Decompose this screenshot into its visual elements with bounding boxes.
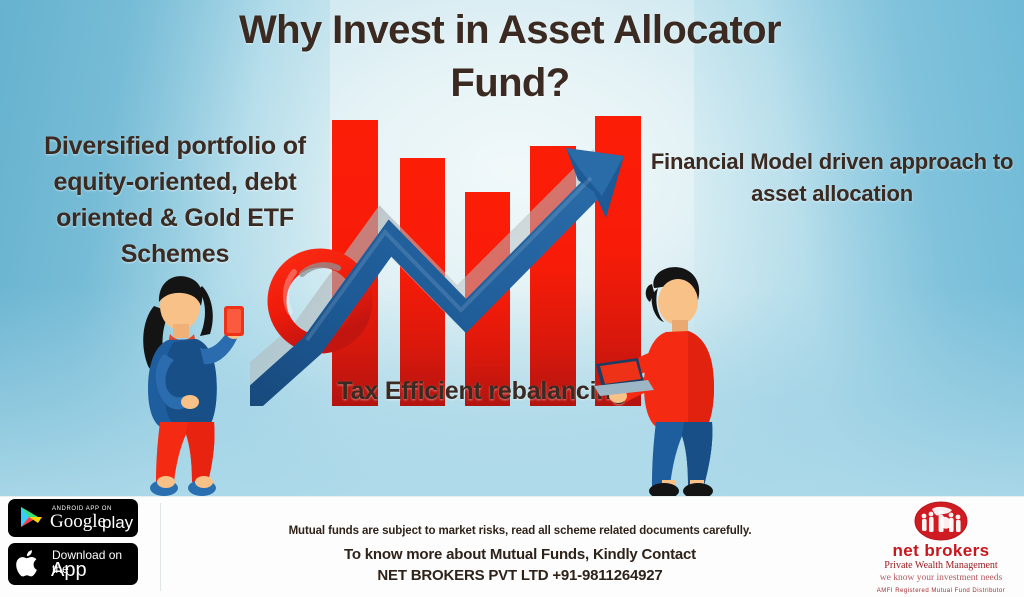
footer-text-block: Mutual funds are subject to market risks… <box>170 523 870 586</box>
footer-bar: ANDROID APP ON Google play Download on t… <box>0 496 1024 597</box>
contact-line-1: To know more about Mutual Funds, Kindly … <box>170 544 870 565</box>
risk-disclaimer: Mutual funds are subject to market risks… <box>170 523 870 539</box>
footer-divider <box>160 503 161 591</box>
man-with-laptop-illustration <box>592 258 732 500</box>
globe-people-logo-icon <box>914 501 968 541</box>
brand-tagline-2: we know your investment needs <box>866 572 1016 584</box>
feature-text-left: Diversified portfolio of equity-oriented… <box>16 128 334 272</box>
brand-tagline-1: Private Wealth Management <box>866 560 1016 572</box>
google-play-badge[interactable]: ANDROID APP ON Google play <box>8 499 138 537</box>
page-title: Why Invest in Asset Allocator Fund? <box>180 4 840 110</box>
woman-with-phone-illustration <box>118 262 250 498</box>
brand-tagline-3: AMFI Registered Mutual Fund Distributor <box>866 586 1016 596</box>
google-play-main: Google <box>50 511 106 533</box>
contact-line-2: NET BROKERS PVT LTD +91-9811264927 <box>170 565 870 586</box>
play-triangle-icon <box>16 503 46 533</box>
store-badges: ANDROID APP ON Google play Download on t… <box>8 499 153 591</box>
feature-text-right: Financial Model driven approach to asset… <box>648 146 1016 210</box>
app-store-main: App Store <box>51 559 138 585</box>
brand-name: net brokers <box>866 542 1016 560</box>
app-store-badge[interactable]: Download on the App Store <box>8 543 138 585</box>
apple-icon <box>16 548 42 580</box>
google-play-main-suffix: play <box>102 513 133 533</box>
poster-canvas: Why Invest in Asset Allocator Fund? <box>0 0 1024 597</box>
net-brokers-logo: net brokers Private Wealth Management we… <box>866 499 1016 596</box>
